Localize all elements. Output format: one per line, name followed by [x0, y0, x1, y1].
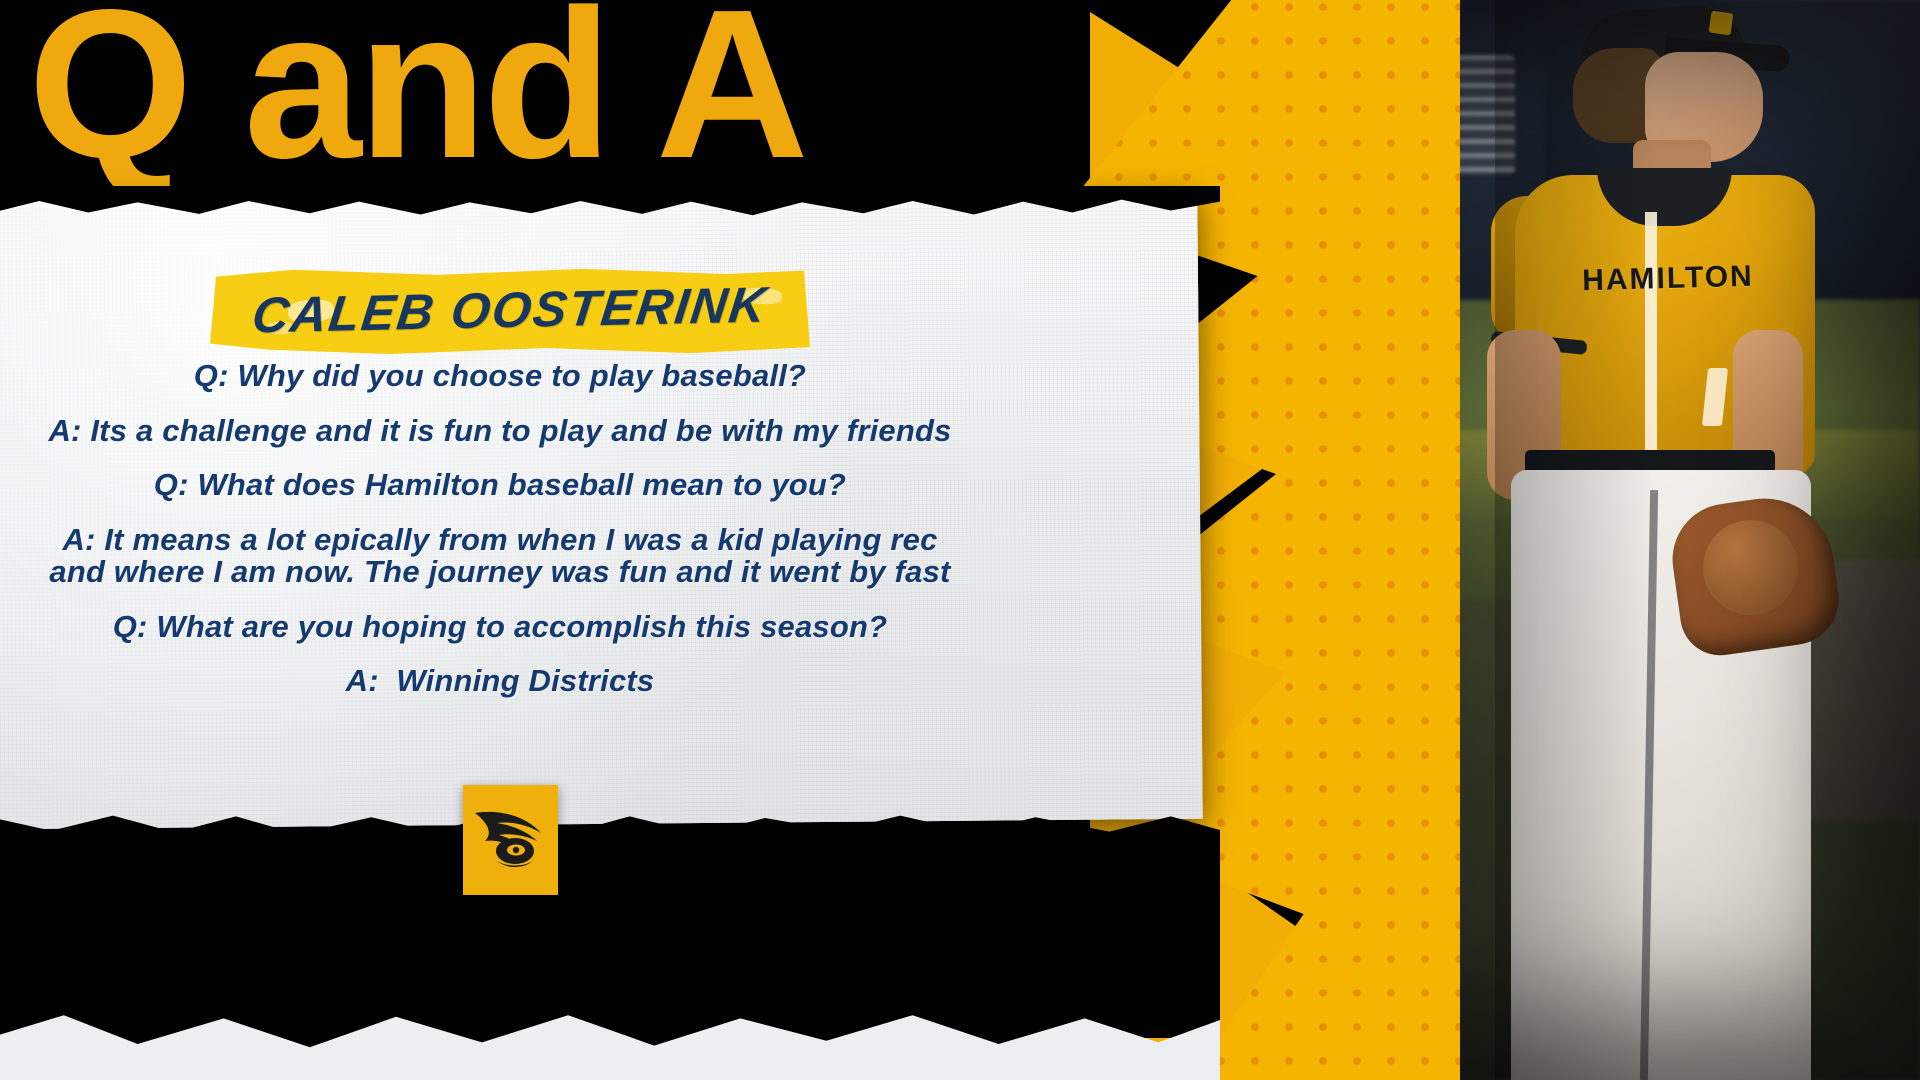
qa-answer: and where I am now. The journey was fun …	[0, 556, 1000, 589]
qa-question: Q: What are you hoping to accomplish thi…	[0, 611, 1000, 644]
page-title: Q and A	[28, 0, 805, 190]
qa-block: Q: Why did you choose to play baseball?	[0, 360, 1000, 393]
qa-block: Q: What does Hamilton baseball mean to y…	[0, 469, 1000, 502]
qa-block: A: Its a challenge and it is fun to play…	[0, 415, 1000, 448]
bottom-black-band	[0, 838, 1220, 1038]
qa-answer: A: Its a challenge and it is fun to play…	[0, 415, 1000, 448]
qa-answer: A: It means a lot epically from when I w…	[0, 524, 1000, 557]
team-logo-box	[463, 785, 558, 895]
qa-block: A: It means a lot epically from when I w…	[0, 524, 1000, 589]
qa-answer: A: Winning Districts	[0, 665, 1000, 698]
graphic-canvas: HAMILTON Q and A CALEB OOSTERINK Q: Why …	[0, 0, 1920, 1080]
qa-question: Q: What does Hamilton baseball mean to y…	[0, 469, 1000, 502]
qa-block: A: Winning Districts	[0, 665, 1000, 698]
qa-list: Q: Why did you choose to play baseball? …	[0, 360, 1000, 720]
hawk-icon	[471, 807, 551, 873]
qa-question: Q: Why did you choose to play baseball?	[0, 360, 1000, 393]
qa-block: Q: What are you hoping to accomplish thi…	[0, 611, 1000, 644]
